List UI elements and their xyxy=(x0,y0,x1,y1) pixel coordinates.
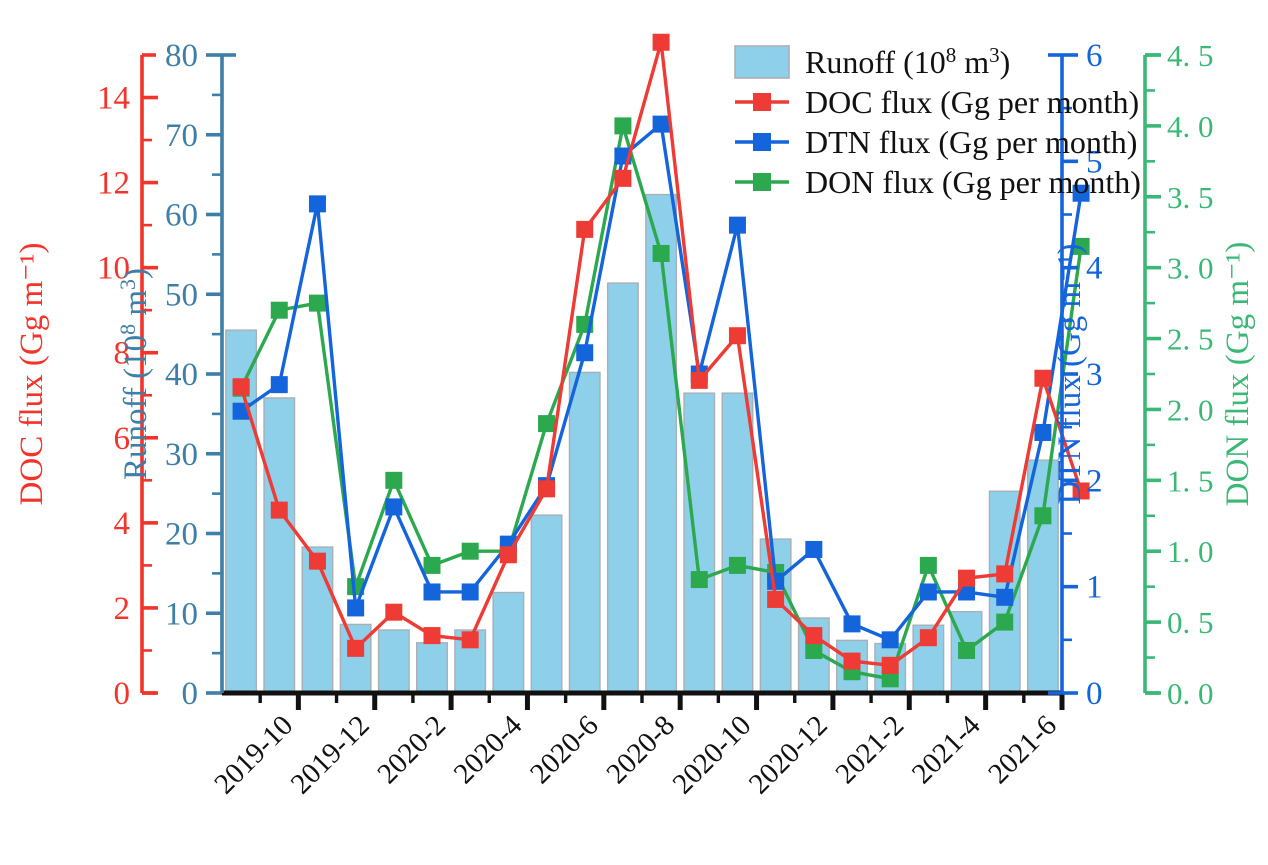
dtn-series-marker xyxy=(385,498,402,515)
don-tick-label: 3. 0 xyxy=(1167,251,1214,286)
doc-tick-label: 4 xyxy=(114,506,131,542)
legend: Runoff (108 m3)DOC flux (Gg per month)DT… xyxy=(735,43,1141,200)
don-series-marker xyxy=(691,571,708,588)
doc-series-marker xyxy=(844,653,861,670)
doc-series-marker xyxy=(233,378,250,395)
doc-series-marker xyxy=(653,34,670,51)
don-series-marker xyxy=(309,295,326,312)
dtn-axis-title: DTN flux (Gg m⁻¹) xyxy=(1052,243,1088,504)
dtn-series-marker xyxy=(1034,424,1051,441)
x-tick-label: 2021-2 xyxy=(829,709,910,790)
x-axis: 2019-102019-122020-22020-42020-62020-820… xyxy=(208,693,1063,800)
doc-series-marker xyxy=(309,553,326,570)
x-tick-label: 2020-4 xyxy=(448,709,529,790)
doc-tick-label: 2 xyxy=(114,591,131,627)
legend-label-don: DON flux (Gg per month) xyxy=(805,164,1141,200)
doc-series-marker xyxy=(729,327,746,344)
doc-series-marker xyxy=(462,631,479,648)
runoff-tick-label: 10 xyxy=(165,596,198,632)
runoff-bar xyxy=(340,624,371,693)
don-series-marker xyxy=(920,557,937,574)
runoff-bars-group xyxy=(226,195,1058,693)
legend-label-dtn: DTN flux (Gg per month) xyxy=(805,124,1137,160)
dtn-series-marker xyxy=(424,583,441,600)
don-tick-label: 1. 0 xyxy=(1167,534,1214,569)
doc-series-marker xyxy=(996,565,1013,582)
legend-swatch-runoff xyxy=(735,46,789,78)
doc-series-marker xyxy=(614,170,631,187)
legend-marker-doc xyxy=(753,93,771,111)
doc-series-marker xyxy=(920,629,937,646)
runoff-tick-label: 20 xyxy=(165,517,198,553)
dtn-tick-label: 4 xyxy=(1086,251,1103,287)
runoff-bar xyxy=(722,393,753,693)
x-tick-label: 2020-6 xyxy=(524,709,605,790)
runoff-tick-label: 40 xyxy=(165,357,198,393)
runoff-tick-label: 70 xyxy=(165,118,198,154)
don-series-marker xyxy=(1034,507,1051,524)
legend-marker-dtn xyxy=(753,133,771,151)
dtn-series-marker xyxy=(844,615,861,632)
don-tick-label: 2. 5 xyxy=(1167,322,1214,357)
don-tick-label: 2. 0 xyxy=(1167,392,1214,427)
don-series-marker xyxy=(729,557,746,574)
don-series-marker xyxy=(538,415,555,432)
x-tick-label: 2021-6 xyxy=(982,709,1063,790)
dtn-tick-label: 1 xyxy=(1086,570,1103,606)
x-tick-label: 2020-10 xyxy=(667,709,758,800)
runoff-bar xyxy=(608,283,639,693)
don-series-marker xyxy=(653,245,670,262)
doc-series-marker xyxy=(576,221,593,238)
don-tick-label: 4. 0 xyxy=(1167,109,1214,144)
dtn-series-marker xyxy=(767,573,784,590)
doc-series-marker xyxy=(691,372,708,389)
doc-series-marker xyxy=(347,640,364,657)
don-tick-label: 0. 5 xyxy=(1167,605,1214,640)
dtn-tick-label: 0 xyxy=(1086,676,1103,712)
don-series-marker xyxy=(385,472,402,489)
doc-series-marker xyxy=(805,627,822,644)
legend-label-runoff: Runoff (108 m3) xyxy=(805,43,1010,80)
doc-axis-title: DOC flux (Gg m⁻¹) xyxy=(14,243,50,506)
runoff-bar xyxy=(417,643,448,693)
don-tick-label: 4. 5 xyxy=(1167,38,1214,73)
doc-tick-label: 0 xyxy=(114,676,131,712)
runoff-tick-label: 0 xyxy=(182,676,199,712)
don-series-marker xyxy=(424,557,441,574)
don-axis: 0. 00. 51. 01. 52. 02. 53. 03. 54. 04. 5… xyxy=(1145,38,1256,711)
don-series-marker xyxy=(958,642,975,659)
doc-series-marker xyxy=(385,604,402,621)
doc-tick-label: 12 xyxy=(97,166,130,202)
x-tick-label: 2019-12 xyxy=(285,709,376,800)
runoff-bar xyxy=(264,398,295,693)
x-tick-label: 2020-2 xyxy=(371,709,452,790)
runoff-tick-label: 60 xyxy=(165,198,198,234)
dtn-series-marker xyxy=(882,631,899,648)
dtn-series-marker xyxy=(462,583,479,600)
doc-series-marker xyxy=(271,502,288,519)
runoff-tick-label: 50 xyxy=(165,277,198,313)
dtn-series-marker xyxy=(271,376,288,393)
dtn-tick-label: 3 xyxy=(1086,357,1103,393)
runoff-tick-label: 80 xyxy=(165,38,198,74)
doc-series-marker xyxy=(958,570,975,587)
legend-marker-don xyxy=(753,173,771,191)
don-series-marker xyxy=(996,614,1013,631)
dtn-tick-label: 2 xyxy=(1086,463,1103,499)
don-series-marker xyxy=(614,117,631,134)
runoff-bar xyxy=(569,372,600,693)
don-tick-label: 1. 5 xyxy=(1167,463,1214,498)
runoff-bar xyxy=(531,515,562,693)
don-series-marker xyxy=(805,642,822,659)
runoff-bar xyxy=(760,539,791,693)
dtn-series-marker xyxy=(996,589,1013,606)
dtn-series-marker xyxy=(653,116,670,133)
don-axis-title: DON flux (Gg m⁻¹) xyxy=(1220,242,1256,507)
dtn-series-marker xyxy=(347,599,364,616)
doc-series-marker xyxy=(538,480,555,497)
legend-label-doc: DOC flux (Gg per month) xyxy=(805,84,1139,120)
dtn-series-marker xyxy=(729,217,746,234)
runoff-axis-title-group: Runoff (108 m3) xyxy=(115,268,154,480)
don-tick-label: 0. 0 xyxy=(1167,676,1214,711)
runoff-tick-label: 30 xyxy=(165,437,198,473)
runoff-axis-title: Runoff (108 m3) xyxy=(115,268,154,480)
dtn-series-marker xyxy=(309,195,326,212)
dtn-series-marker xyxy=(805,541,822,558)
dtn-series-marker xyxy=(576,344,593,361)
multi-axis-runoff-flux-chart: 2019-102019-122020-22020-42020-62020-820… xyxy=(0,0,1268,865)
don-series-marker xyxy=(462,543,479,560)
runoff-bar xyxy=(646,195,677,693)
x-tick-label: 2020-12 xyxy=(743,709,834,800)
doc-series-marker xyxy=(1034,370,1051,387)
runoff-bar xyxy=(379,630,410,693)
dtn-tick-label: 6 xyxy=(1086,38,1103,74)
x-tick-label: 2019-10 xyxy=(208,709,299,800)
runoff-bar xyxy=(684,393,715,693)
doc-series-marker xyxy=(882,657,899,674)
don-series-marker xyxy=(271,302,288,319)
doc-series-marker xyxy=(424,627,441,644)
doc-tick-label: 14 xyxy=(97,81,130,117)
dtn-series-marker xyxy=(920,583,937,600)
runoff-axis: 01020304050607080Runoff (108 m3) xyxy=(115,38,236,712)
x-tick-label: 2021-4 xyxy=(906,709,987,790)
chart-figure: 2019-102019-122020-22020-42020-62020-820… xyxy=(0,0,1268,865)
doc-series-marker xyxy=(500,546,517,563)
runoff-bar xyxy=(493,593,524,693)
don-tick-label: 3. 5 xyxy=(1167,180,1214,215)
doc-series-marker xyxy=(767,591,784,608)
